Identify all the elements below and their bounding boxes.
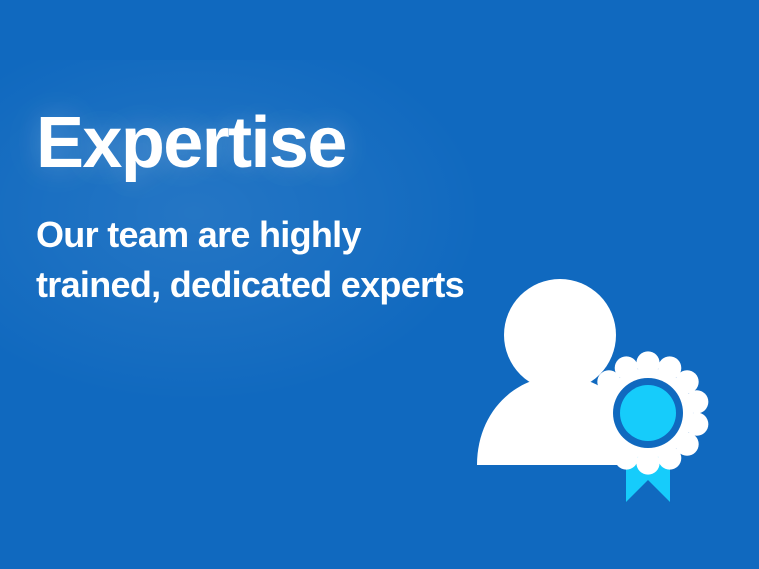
person-head-icon <box>504 279 616 391</box>
badge-center <box>620 385 676 441</box>
page-subtitle: Our team are highly trained, dedicated e… <box>36 182 466 310</box>
page-title: Expertise <box>36 104 506 182</box>
expert-badge-illustration <box>452 252 732 522</box>
text-block: Expertise Our team are highly trained, d… <box>36 104 506 310</box>
expertise-slide: Expertise Our team are highly trained, d… <box>0 0 759 569</box>
